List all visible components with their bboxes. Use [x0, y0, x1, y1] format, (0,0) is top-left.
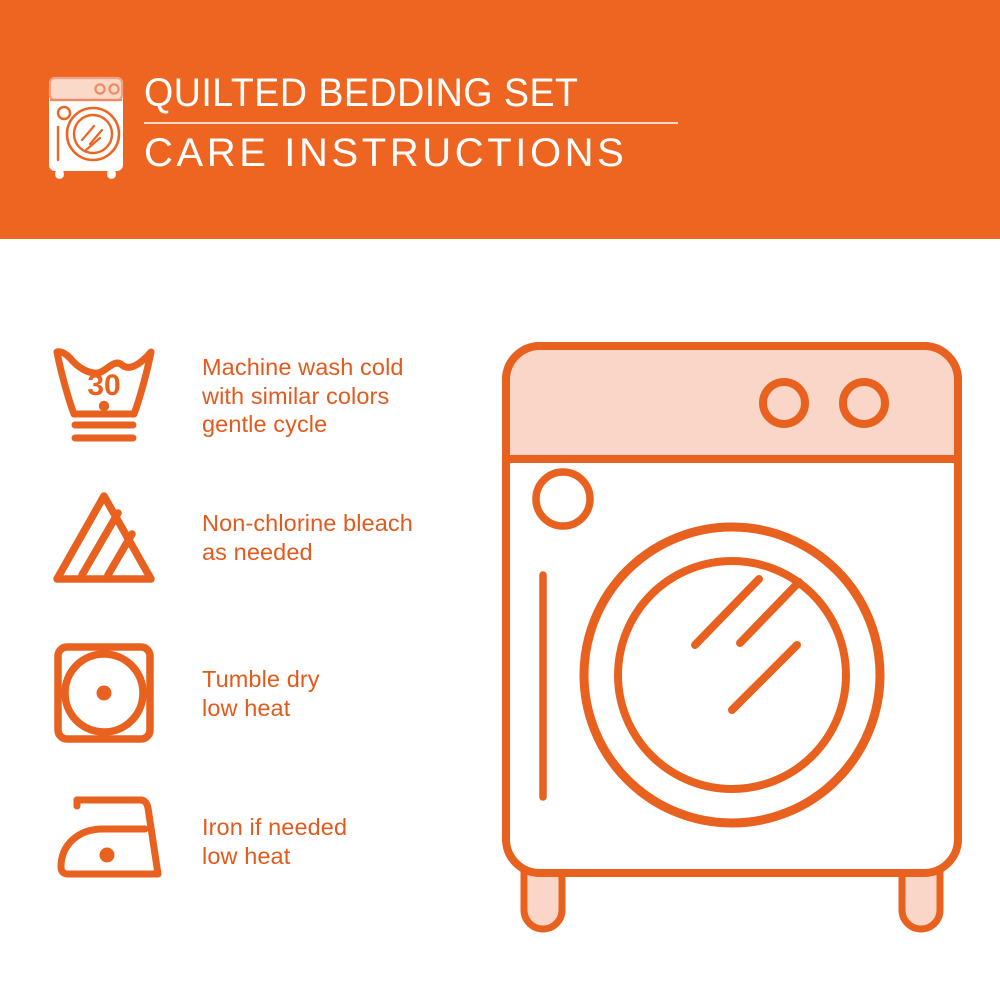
care-line: Tumble dry	[202, 665, 470, 694]
non-chlorine-bleach-triangle-icon	[48, 487, 168, 597]
care-line: with similar colors	[202, 382, 470, 411]
wash-dot	[99, 401, 109, 411]
care-line: low heat	[202, 694, 470, 723]
care-line: as needed	[202, 538, 470, 567]
care-item-text-bleach: Non-chlorine bleach as needed	[202, 509, 470, 566]
header-text-block: QUILTED BEDDING SET CARE INSTRUCTIONS	[144, 70, 704, 182]
washer-leg-right	[902, 870, 940, 929]
care-item-machine-wash: 30 Machine wash cold with similar colors…	[0, 339, 470, 464]
care-item-bleach: Non-chlorine bleach as needed	[0, 487, 470, 597]
washer-leg-left	[524, 870, 562, 929]
care-instructions-page: QUILTED BEDDING SET CARE INSTRUCTIONS 30	[0, 0, 1000, 1000]
care-item-tumble-dry: Tumble dry low heat	[0, 637, 470, 752]
care-line: low heat	[202, 842, 470, 871]
care-line: Machine wash cold	[202, 353, 470, 382]
dry-heat-dot	[97, 686, 112, 701]
iron-low-heat-icon	[48, 787, 168, 897]
care-item-text-iron: Iron if needed low heat	[202, 813, 470, 870]
iron-heat-dot	[100, 848, 115, 863]
wash-temperature-label: 30	[87, 369, 120, 402]
page-title: QUILTED BEDDING SET	[144, 70, 670, 116]
header-divider	[144, 122, 678, 124]
care-item-iron: Iron if needed low heat	[0, 787, 470, 897]
care-line: Non-chlorine bleach	[202, 509, 470, 538]
washer-control-panel	[506, 346, 958, 459]
care-line: gentle cycle	[202, 410, 470, 439]
washer-legs	[524, 870, 940, 929]
wash-tub-30-gentle-icon: 30	[48, 339, 168, 449]
care-line: Iron if needed	[202, 813, 470, 842]
header-band: QUILTED BEDDING SET CARE INSTRUCTIONS	[0, 0, 1000, 239]
care-instructions-list: 30 Machine wash cold with similar colors…	[0, 239, 470, 1000]
washing-machine-icon	[44, 72, 144, 180]
care-item-text-machine-wash: Machine wash cold with similar colors ge…	[202, 353, 470, 439]
washing-machine-illustration	[487, 325, 977, 940]
page-subtitle: CARE INSTRUCTIONS	[144, 129, 704, 177]
care-item-text-tumble-dry: Tumble dry low heat	[202, 665, 470, 722]
tumble-dry-low-heat-icon	[48, 637, 168, 747]
